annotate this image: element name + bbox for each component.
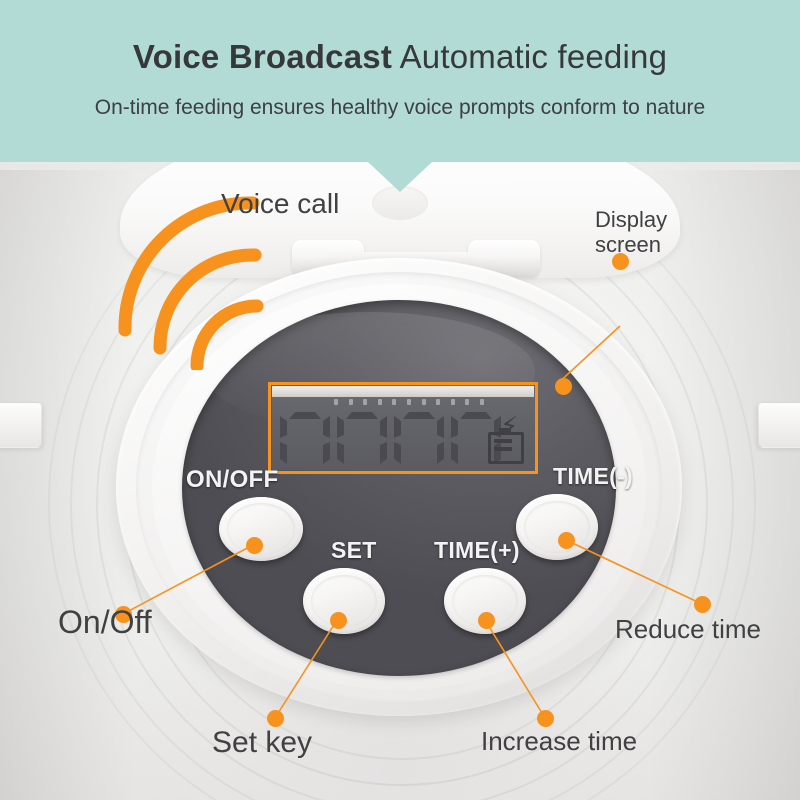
callout-label-on-off: On/Off	[58, 604, 152, 641]
leader-line-display-screen	[556, 326, 620, 385]
callout-anchor-increase-time	[478, 612, 495, 629]
banner-title: Voice Broadcast Automatic feeding	[0, 38, 800, 76]
banner-title-bold: Voice Broadcast	[133, 38, 392, 75]
leader-line-reduce-time	[566, 540, 702, 604]
callout-anchor-on-off	[246, 537, 263, 554]
callout-label-set-key: Set key	[212, 726, 312, 760]
callout-label-display-screen: Display screen	[595, 207, 705, 257]
leader-line-increase-time	[485, 620, 545, 718]
callout-dot-reduce-time	[694, 596, 711, 613]
header-banner: Voice Broadcast Automatic feeding On-tim…	[0, 0, 800, 162]
callout-dot-set-key	[267, 710, 284, 727]
callout-anchor-set-key	[330, 612, 347, 629]
callout-anchor-display-screen	[555, 378, 572, 395]
callout-anchor-reduce-time	[558, 532, 575, 549]
product-marketing-image: ⚡ ON/OFF SET TIME(+) TIME(-)	[0, 0, 800, 800]
callout-label-reduce-time: Reduce time	[615, 614, 761, 645]
banner-subtitle: On-time feeding ensures healthy voice pr…	[0, 96, 800, 120]
banner-notch-triangle	[368, 162, 432, 192]
callout-label-voice-call: Voice call	[221, 188, 339, 220]
voice-wave-arc-inner	[197, 306, 257, 366]
banner-title-rest: Automatic feeding	[392, 38, 667, 75]
leader-line-set-key	[275, 620, 337, 718]
callout-label-increase-time: Increase time	[481, 726, 637, 757]
callout-dot-increase-time	[537, 710, 554, 727]
